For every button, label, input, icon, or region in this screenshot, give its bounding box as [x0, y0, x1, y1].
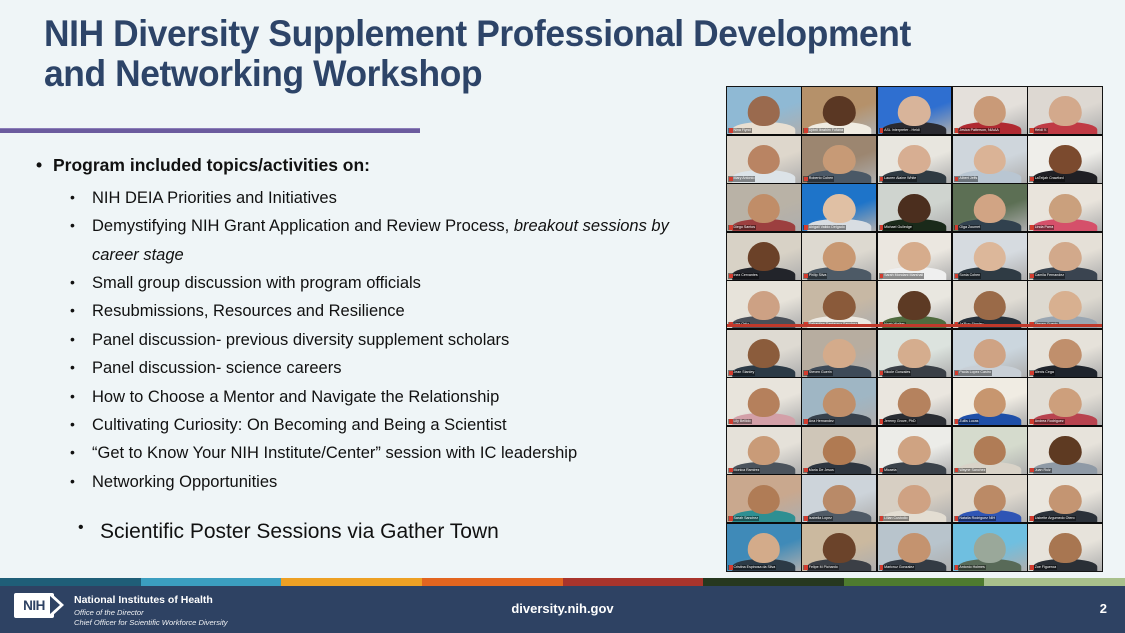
- participant-name-label: Roberto Cohen: [803, 176, 834, 181]
- muted-mic-icon: [1030, 565, 1034, 570]
- stripe-segment: [0, 578, 141, 586]
- participant-name-label: Isabella Lopez: [803, 516, 833, 521]
- participant-name-label: Albert Jeffs: [954, 176, 978, 181]
- video-tile[interactable]: Sarah Mondani Marshall: [878, 233, 952, 280]
- muted-mic-icon: [880, 371, 884, 376]
- participant-face: [748, 291, 780, 320]
- video-tile[interactable]: Inez Cervantes: [727, 233, 801, 280]
- lead-bullet-label: Program included topics/activities on:: [53, 155, 370, 177]
- muted-mic-icon: [729, 128, 733, 133]
- participant-name-text: Lily Bellido: [734, 419, 751, 424]
- video-tile[interactable]: Lily Bellido: [727, 378, 801, 425]
- participant-name-label: Wayne Sanchez: [954, 468, 987, 473]
- video-tile[interactable]: Jean Stanley: [727, 330, 801, 377]
- participant-face: [898, 96, 930, 125]
- video-tile[interactable]: Maria De Jesus: [802, 427, 876, 474]
- video-tile[interactable]: Micaela: [878, 427, 952, 474]
- video-tile[interactable]: Monica Ramirez: [727, 427, 801, 474]
- video-tile[interactable]: Abigail Valido Delgado: [802, 184, 876, 231]
- participant-name-label: Nina Flynd: [728, 128, 752, 133]
- muted-mic-icon: [1030, 516, 1034, 521]
- participant-name-text: LaTeijah Crawford: [1035, 176, 1064, 181]
- participant-face: [898, 339, 930, 368]
- list-item-label: “Get to Know Your NIH Institute/Center” …: [92, 439, 710, 467]
- participant-name-text: Ana Hernandez: [809, 419, 834, 424]
- video-tile[interactable]: Ja'Ron Stanley: [953, 281, 1027, 328]
- participant-name-label: Sarah Mondani Marshall: [879, 273, 924, 278]
- participant-face: [1049, 291, 1081, 320]
- stripe-segment: [422, 578, 563, 586]
- list-item: •Cultivating Curiosity: On Becoming and …: [70, 411, 710, 439]
- muted-mic-icon: [955, 468, 959, 473]
- page-title: NIH Diversity Supplement Professional De…: [44, 14, 961, 93]
- zoom-gallery-screenshot: Nina FlyndDjibril Ibrahim FofanaASL Inte…: [726, 86, 1103, 572]
- participant-face: [748, 96, 780, 125]
- participant-face: [974, 145, 1006, 174]
- muted-mic-icon: [729, 468, 733, 473]
- participant-face: [823, 291, 855, 320]
- muted-mic-icon: [729, 177, 733, 182]
- participant-face: [1049, 485, 1081, 514]
- participant-name-text: Cristina Espinosa da Silva: [734, 565, 776, 570]
- video-tile[interactable]: Zoe Figueroa: [1028, 524, 1102, 571]
- participant-name-label: Natalia Rodriguez NIH: [954, 516, 996, 521]
- participant-name-label: Cristina Espinosa da Silva: [728, 565, 776, 570]
- muted-mic-icon: [729, 225, 733, 230]
- participant-face: [1049, 96, 1081, 125]
- participant-face: [748, 194, 780, 223]
- muted-mic-icon: [1030, 419, 1034, 424]
- list-item-label: Panel discussion- previous diversity sup…: [92, 326, 710, 354]
- participant-face: [823, 242, 855, 271]
- participant-name-text: Philip Silva: [809, 273, 827, 278]
- video-tile[interactable]: Paola Lopez Castro: [953, 330, 1027, 377]
- list-item: •How to Choose a Mentor and Navigate the…: [70, 383, 710, 411]
- video-tile[interactable]: Isabella Lopez: [802, 475, 876, 522]
- list-item-label: How to Choose a Mentor and Navigate the …: [92, 383, 710, 411]
- list-item: •Panel discussion- science careers: [70, 354, 710, 382]
- muted-mic-icon: [955, 225, 959, 230]
- muted-mic-icon: [804, 225, 808, 230]
- video-tile[interactable]: Maricruz Gonzalez: [878, 524, 952, 571]
- participant-face: [823, 485, 855, 514]
- list-item: •Demystifying NIH Grant Application and …: [70, 212, 710, 269]
- participant-face: [748, 485, 780, 514]
- video-tile[interactable]: ASL Interpreter - Heidi: [878, 87, 952, 134]
- participant-face: [748, 436, 780, 465]
- list-item-label: NIH DEIA Priorities and Initiatives: [92, 184, 710, 212]
- participant-face: [1049, 194, 1081, 223]
- participant-name-text: Nicole Gonzales: [884, 370, 910, 375]
- participant-name-text: Lauren Alaine White: [884, 176, 916, 181]
- content-body: • Program included topics/activities on:…: [30, 155, 710, 545]
- muted-mic-icon: [1030, 274, 1034, 279]
- video-tile[interactable]: Noah Walker: [878, 281, 952, 328]
- participant-name-text: Juan Ruiz: [1035, 468, 1051, 473]
- list-item-label: Networking Opportunities: [92, 468, 710, 496]
- participant-name-label: Linda Parra: [1029, 225, 1054, 230]
- participant-name-label: Micaela: [879, 468, 898, 473]
- video-tile[interactable]: Ana Hernandez: [802, 378, 876, 425]
- participant-name-label: Diego Santos: [728, 225, 756, 230]
- video-tile[interactable]: Nina Flynd: [727, 87, 801, 134]
- bullet-marker: •: [70, 326, 92, 354]
- video-tile[interactable]: Zullis Lucas: [953, 378, 1027, 425]
- bullet-marker: •: [70, 269, 92, 297]
- video-tile[interactable]: LaTeijah Crawford: [1028, 136, 1102, 183]
- muted-mic-icon: [804, 177, 808, 182]
- participant-face: [1049, 436, 1081, 465]
- video-tile[interactable]: Heidi V.: [1028, 87, 1102, 134]
- video-tile[interactable]: Sebastian Santacruz Sanchez: [802, 281, 876, 328]
- slide-footer: NIH National Institutes of Health Office…: [0, 586, 1125, 633]
- participant-name-text: Lilian Custodio: [884, 516, 908, 521]
- participant-face: [974, 339, 1006, 368]
- participant-name-text: Michael Gulledge: [884, 225, 912, 230]
- participant-face: [823, 145, 855, 174]
- lead-bullet: • Program included topics/activities on:: [30, 155, 710, 177]
- participant-face: [748, 145, 780, 174]
- slide-page-number: 2: [1100, 601, 1107, 616]
- muted-mic-icon: [955, 516, 959, 521]
- video-tile[interactable]: Camila Fernandez: [1028, 233, 1102, 280]
- bullet-marker: •: [70, 184, 92, 212]
- participant-name-label: Alexis Cega: [1029, 370, 1055, 375]
- participant-name-text: Roberto Cohen: [809, 176, 833, 181]
- participant-face: [898, 388, 930, 417]
- video-tile[interactable]: Felipe M Pichardo: [802, 524, 876, 571]
- participant-name-text: Mary Antonio: [734, 176, 755, 181]
- participant-name-text: Wayne Sanchez: [959, 468, 985, 473]
- muted-mic-icon: [955, 371, 959, 376]
- participant-face: [898, 533, 930, 562]
- list-item: •NIH DEIA Priorities and Initiatives: [70, 184, 710, 212]
- video-tile[interactable]: Jesica Patterson, NIAAA: [953, 87, 1027, 134]
- video-tile[interactable]: Djibril Ibrahim Fofana: [802, 87, 876, 134]
- participant-face: [898, 436, 930, 465]
- participant-name-label: LaTeijah Crawford: [1029, 176, 1064, 181]
- participant-name-text: Maricruz Gonzalez: [884, 565, 914, 570]
- participant-name-label: Ana Hernandez: [803, 419, 834, 424]
- video-tile[interactable]: Philip Silva: [802, 233, 876, 280]
- video-tile[interactable]: Sarah Sanchez: [727, 475, 801, 522]
- video-tile[interactable]: Ling Ortiz: [727, 281, 801, 328]
- participant-name-text: Andrea Rodriguez: [1035, 419, 1064, 424]
- muted-mic-icon: [955, 177, 959, 182]
- participant-name-text: Micaela: [884, 468, 896, 473]
- participant-name-text: Zullis Lucas: [959, 419, 978, 424]
- muted-mic-icon: [804, 565, 808, 570]
- list-item: •Small group discussion with program off…: [70, 269, 710, 297]
- video-tile[interactable]: Natalia Rodriguez NIH: [953, 475, 1027, 522]
- muted-mic-icon: [1030, 371, 1034, 376]
- participant-name-text: Djibril Ibrahim Fofana: [809, 128, 843, 133]
- participant-face: [1049, 388, 1081, 417]
- participant-face: [974, 533, 1006, 562]
- closing-bullet-label: Scientific Poster Sessions via Gather To…: [100, 518, 499, 545]
- muted-mic-icon: [1030, 128, 1034, 133]
- video-tile[interactable]: Michael Gulledge: [878, 184, 952, 231]
- participant-name-label: Andrea Rodriguez: [1029, 419, 1064, 424]
- list-item-label: Demystifying NIH Grant Application and R…: [92, 212, 710, 269]
- bullet-marker: •: [70, 411, 92, 439]
- participant-name-label: Philip Silva: [803, 273, 827, 278]
- video-tile[interactable]: Lisbette Argumedo Otero: [1028, 475, 1102, 522]
- video-tile[interactable]: Roberto Cohen: [802, 136, 876, 183]
- participant-name-label: Camila Fernandez: [1029, 273, 1065, 278]
- participant-name-label: Zullis Lucas: [954, 419, 979, 424]
- participant-face: [748, 388, 780, 417]
- list-item: •Resubmissions, Resources and Resilience: [70, 297, 710, 325]
- stripe-segment: [984, 578, 1125, 586]
- muted-mic-icon: [1030, 468, 1034, 473]
- footer-website-url: diversity.nih.gov: [0, 601, 1125, 616]
- participant-name-label: Paola Lopez Castro: [954, 370, 992, 375]
- participant-face: [974, 194, 1006, 223]
- participant-face: [748, 242, 780, 271]
- participant-name-label: Felipe M Pichardo: [803, 565, 838, 570]
- participant-name-text: Sarah Mondani Marshall: [884, 273, 923, 278]
- participant-name-text: Steven Guerin: [809, 370, 832, 375]
- participant-face: [974, 436, 1006, 465]
- muted-mic-icon: [955, 274, 959, 279]
- participant-face: [748, 339, 780, 368]
- muted-mic-icon: [1030, 225, 1034, 230]
- video-tile[interactable]: Wayne Sanchez: [953, 427, 1027, 474]
- participant-name-label: Zoe Figueroa: [1029, 565, 1057, 570]
- participant-face: [1049, 242, 1081, 271]
- list-item-emphasis: breakout sessions by career stage: [92, 217, 669, 263]
- video-tile[interactable]: Cristina Espinosa da Silva: [727, 524, 801, 571]
- bullet-marker: •: [70, 439, 92, 467]
- participant-name-label: Jean Stanley: [728, 370, 755, 375]
- muted-mic-icon: [729, 274, 733, 279]
- participant-name-text: Heidi V.: [1035, 128, 1047, 133]
- participant-face: [823, 194, 855, 223]
- participant-name-text: Isabella Lopez: [809, 516, 832, 521]
- participant-name-label: Lisbette Argumedo Otero: [1029, 516, 1075, 521]
- participant-name-text: Alexis Cega: [1035, 370, 1054, 375]
- participant-face: [898, 145, 930, 174]
- participant-name-label: Jesica Patterson, NIAAA: [954, 128, 1000, 133]
- participant-name-text: Maria De Jesus: [809, 468, 834, 473]
- participant-face: [974, 96, 1006, 125]
- muted-mic-icon: [729, 371, 733, 376]
- participant-face: [823, 436, 855, 465]
- video-tile-grid: Nina FlyndDjibril Ibrahim FofanaASL Inte…: [727, 87, 1102, 571]
- bullet-marker: •: [70, 212, 92, 269]
- muted-mic-icon: [880, 565, 884, 570]
- muted-mic-icon: [1030, 177, 1034, 182]
- participant-face: [974, 485, 1006, 514]
- participant-name-label: Lauren Alaine White: [879, 176, 918, 181]
- participant-name-text: Nina Flynd: [734, 128, 751, 133]
- participant-name-label: Mary Antonio: [728, 176, 755, 181]
- stripe-segment: [844, 578, 985, 586]
- title-divider-rule: [0, 128, 420, 133]
- participant-name-label: Nicole Gonzales: [879, 370, 912, 375]
- participant-face: [1049, 145, 1081, 174]
- bullet-marker: •: [70, 468, 92, 496]
- participant-name-label: Maricruz Gonzalez: [879, 565, 915, 570]
- participant-name-label: Heidi V.: [1029, 128, 1048, 133]
- muted-mic-icon: [955, 565, 959, 570]
- participant-name-label: Inez Cervantes: [728, 273, 759, 278]
- participant-name-text: Jeremy Grove, PhD: [884, 419, 916, 424]
- bullet-marker: •: [70, 383, 92, 411]
- bullet-marker: •: [70, 297, 92, 325]
- participant-face: [898, 291, 930, 320]
- video-tile[interactable]: Mary Antonio: [727, 136, 801, 183]
- closing-bullet: • Scientific Poster Sessions via Gather …: [78, 518, 710, 545]
- participant-name-label: Olga Zoumet: [954, 225, 981, 230]
- participant-name-text: Antonio Holmes: [959, 565, 984, 570]
- participant-face: [974, 388, 1006, 417]
- list-item-label: Cultivating Curiosity: On Becoming and B…: [92, 411, 710, 439]
- participant-name-label: Michael Gulledge: [879, 225, 913, 230]
- muted-mic-icon: [880, 516, 884, 521]
- video-tile[interactable]: Albert Jeffs: [953, 136, 1027, 183]
- participant-name-label: Lily Bellido: [728, 419, 752, 424]
- participant-name-text: Paola Lopez Castro: [959, 370, 991, 375]
- participant-face: [1049, 533, 1081, 562]
- participant-name-label: Steven Guerin: [803, 370, 832, 375]
- slide-canvas: NIH Diversity Supplement Professional De…: [0, 0, 1125, 633]
- stripe-segment: [281, 578, 422, 586]
- video-tile[interactable]: Nicole Gonzales: [878, 330, 952, 377]
- participant-face: [823, 388, 855, 417]
- muted-mic-icon: [880, 419, 884, 424]
- muted-mic-icon: [804, 419, 808, 424]
- video-tile[interactable]: Jeremy Grove, PhD: [878, 378, 952, 425]
- video-tile[interactable]: Lauren Alaine White: [878, 136, 952, 183]
- muted-mic-icon: [880, 128, 884, 133]
- participant-name-text: Camila Fernandez: [1035, 273, 1064, 278]
- muted-mic-icon: [955, 128, 959, 133]
- bullet-marker: •: [70, 354, 92, 382]
- muted-mic-icon: [880, 274, 884, 279]
- participant-name-label: ASL Interpreter - Heidi: [879, 128, 921, 133]
- participant-face: [748, 533, 780, 562]
- participant-name-text: Zoe Figueroa: [1035, 565, 1056, 570]
- muted-mic-icon: [804, 468, 808, 473]
- stripe-segment: [563, 578, 704, 586]
- participant-face: [974, 242, 1006, 271]
- list-item-label: Resubmissions, Resources and Resilience: [92, 297, 710, 325]
- muted-mic-icon: [804, 371, 808, 376]
- participant-name-text: Monica Ramirez: [734, 468, 760, 473]
- list-item-label: Panel discussion- science careers: [92, 354, 710, 382]
- bullet-marker: •: [30, 155, 53, 177]
- participant-name-label: Juan Ruiz: [1029, 468, 1051, 473]
- muted-mic-icon: [729, 419, 733, 424]
- video-tile[interactable]: Lilian Custodio: [878, 475, 952, 522]
- video-tile[interactable]: Sonia Cohen: [953, 233, 1027, 280]
- participant-name-text: Diego Santos: [734, 225, 756, 230]
- color-stripe: [0, 578, 1125, 586]
- video-tile[interactable]: Alexis Cega: [1028, 330, 1102, 377]
- muted-mic-icon: [729, 565, 733, 570]
- muted-mic-icon: [955, 419, 959, 424]
- participant-name-text: Abigail Valido Delgado: [809, 225, 845, 230]
- participant-name-text: Lisbette Argumedo Otero: [1035, 516, 1075, 521]
- participant-name-text: Natalia Rodriguez NIH: [959, 516, 995, 521]
- muted-mic-icon: [729, 516, 733, 521]
- participant-name-label: Djibril Ibrahim Fofana: [803, 128, 844, 133]
- list-item: •“Get to Know Your NIH Institute/Center”…: [70, 439, 710, 467]
- participant-name-label: Antonio Holmes: [954, 565, 986, 570]
- participant-name-label: Sonia Cohen: [954, 273, 981, 278]
- participant-name-text: Felipe M Pichardo: [809, 565, 838, 570]
- video-tile[interactable]: Antonio Holmes: [953, 524, 1027, 571]
- video-tile[interactable]: Diego Santos: [727, 184, 801, 231]
- nih-logo-line3: Chief Officer for Scientific Workforce D…: [74, 618, 228, 628]
- participant-name-text: Sarah Sanchez: [734, 516, 759, 521]
- participant-face: [1049, 339, 1081, 368]
- muted-mic-icon: [880, 468, 884, 473]
- participant-face: [898, 485, 930, 514]
- list-item: •Networking Opportunities: [70, 468, 710, 496]
- muted-mic-icon: [880, 177, 884, 182]
- list-item-label: Small group discussion with program offi…: [92, 269, 710, 297]
- participant-name-text: Jean Stanley: [734, 370, 755, 375]
- video-tile[interactable]: Juan Ruiz: [1028, 427, 1102, 474]
- participant-face: [974, 291, 1006, 320]
- participant-name-text: Sonia Cohen: [959, 273, 980, 278]
- participant-name-label: Lilian Custodio: [879, 516, 909, 521]
- participant-name-text: Jesica Patterson, NIAAA: [959, 128, 998, 133]
- sub-bullet-list: •NIH DEIA Priorities and Initiatives•Dem…: [30, 184, 710, 496]
- participant-name-text: Albert Jeffs: [959, 176, 977, 181]
- bullet-marker: •: [78, 518, 100, 545]
- stripe-segment: [141, 578, 282, 586]
- participant-name-label: Monica Ramirez: [728, 468, 760, 473]
- gallery-page-divider: [727, 324, 1102, 327]
- video-tile[interactable]: Steven Guerin: [802, 330, 876, 377]
- participant-name-text: Linda Parra: [1035, 225, 1054, 230]
- participant-name-label: Abigail Valido Delgado: [803, 225, 845, 230]
- muted-mic-icon: [804, 516, 808, 521]
- participant-face: [898, 194, 930, 223]
- stripe-segment: [703, 578, 844, 586]
- video-tile[interactable]: Linda Parra: [1028, 184, 1102, 231]
- muted-mic-icon: [804, 274, 808, 279]
- video-tile[interactable]: Steven Guerin: [1028, 281, 1102, 328]
- participant-name-label: Sarah Sanchez: [728, 516, 759, 521]
- video-tile[interactable]: Andrea Rodriguez: [1028, 378, 1102, 425]
- muted-mic-icon: [880, 225, 884, 230]
- video-tile[interactable]: Olga Zoumet: [953, 184, 1027, 231]
- participant-face: [823, 533, 855, 562]
- participant-face: [823, 96, 855, 125]
- list-item: •Panel discussion- previous diversity su…: [70, 326, 710, 354]
- participant-name-text: Olga Zoumet: [959, 225, 980, 230]
- participant-name-label: Maria De Jesus: [803, 468, 834, 473]
- participant-name-text: ASL Interpreter - Heidi: [884, 128, 920, 133]
- participant-name-text: Inez Cervantes: [734, 273, 758, 278]
- muted-mic-icon: [804, 128, 808, 133]
- participant-name-label: Jeremy Grove, PhD: [879, 419, 917, 424]
- participant-face: [823, 339, 855, 368]
- participant-face: [898, 242, 930, 271]
